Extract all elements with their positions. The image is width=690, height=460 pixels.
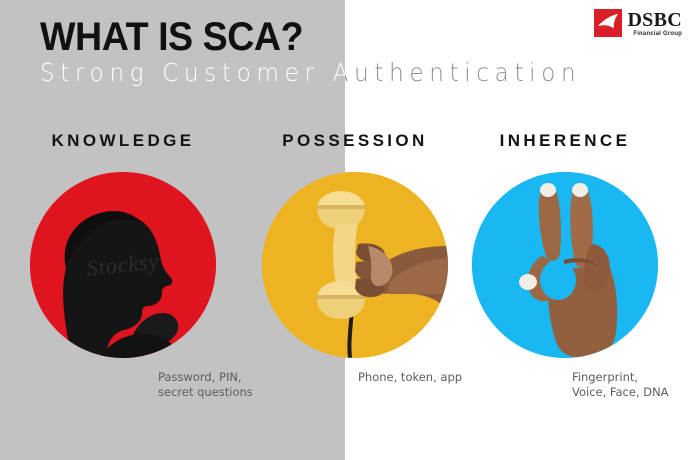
column-heading-knowledge: KNOWLEDGE	[8, 128, 238, 154]
page-title: WHAT IS SCA?	[40, 14, 303, 60]
caption-inherence: Fingerprint, Voice, Face, DNA	[450, 370, 680, 400]
ok-gesture-illustration	[472, 172, 658, 358]
caption-line: secret questions	[158, 385, 238, 400]
logo-name: DSBC	[627, 10, 682, 30]
hand-ok-gesture-photo	[472, 172, 658, 358]
caption-line: Password, PIN,	[158, 370, 238, 385]
header: WHAT IS SCA? Strong Customer Authenticat…	[0, 0, 690, 110]
profile-silhouette-photo: Stocksy	[30, 172, 216, 358]
factor-column-knowledge: KNOWLEDGE Stocksy Password, PIN, sec	[8, 128, 238, 400]
caption-line: Voice, Face, DNA	[572, 385, 680, 400]
logo-tagline: Financial Group	[633, 31, 682, 37]
sca-infographic: WHAT IS SCA? Strong Customer Authenticat…	[0, 0, 690, 460]
caption-knowledge: Password, PIN, secret questions	[8, 370, 238, 400]
factor-column-possession: POSSESSION	[240, 128, 470, 385]
caption-possession: Phone, token, app	[240, 370, 470, 385]
page-subtitle: Strong Customer Authentication Strong Cu…	[0, 58, 690, 90]
brand-logo: DSBC Financial Group	[594, 9, 682, 37]
logo-wordmark: DSBC Financial Group	[627, 10, 682, 37]
caption-line: Fingerprint,	[572, 370, 680, 385]
dsbc-swoosh-logo-icon	[594, 9, 622, 37]
factor-column-inherence: INHERENCE	[450, 128, 680, 400]
hand-holding-telephone-handset-photo	[262, 172, 448, 358]
column-heading-possession: POSSESSION	[240, 128, 470, 154]
silhouette-illustration	[30, 172, 216, 358]
column-heading-inherence: INHERENCE	[450, 128, 680, 154]
telephone-handset-illustration	[262, 172, 448, 358]
